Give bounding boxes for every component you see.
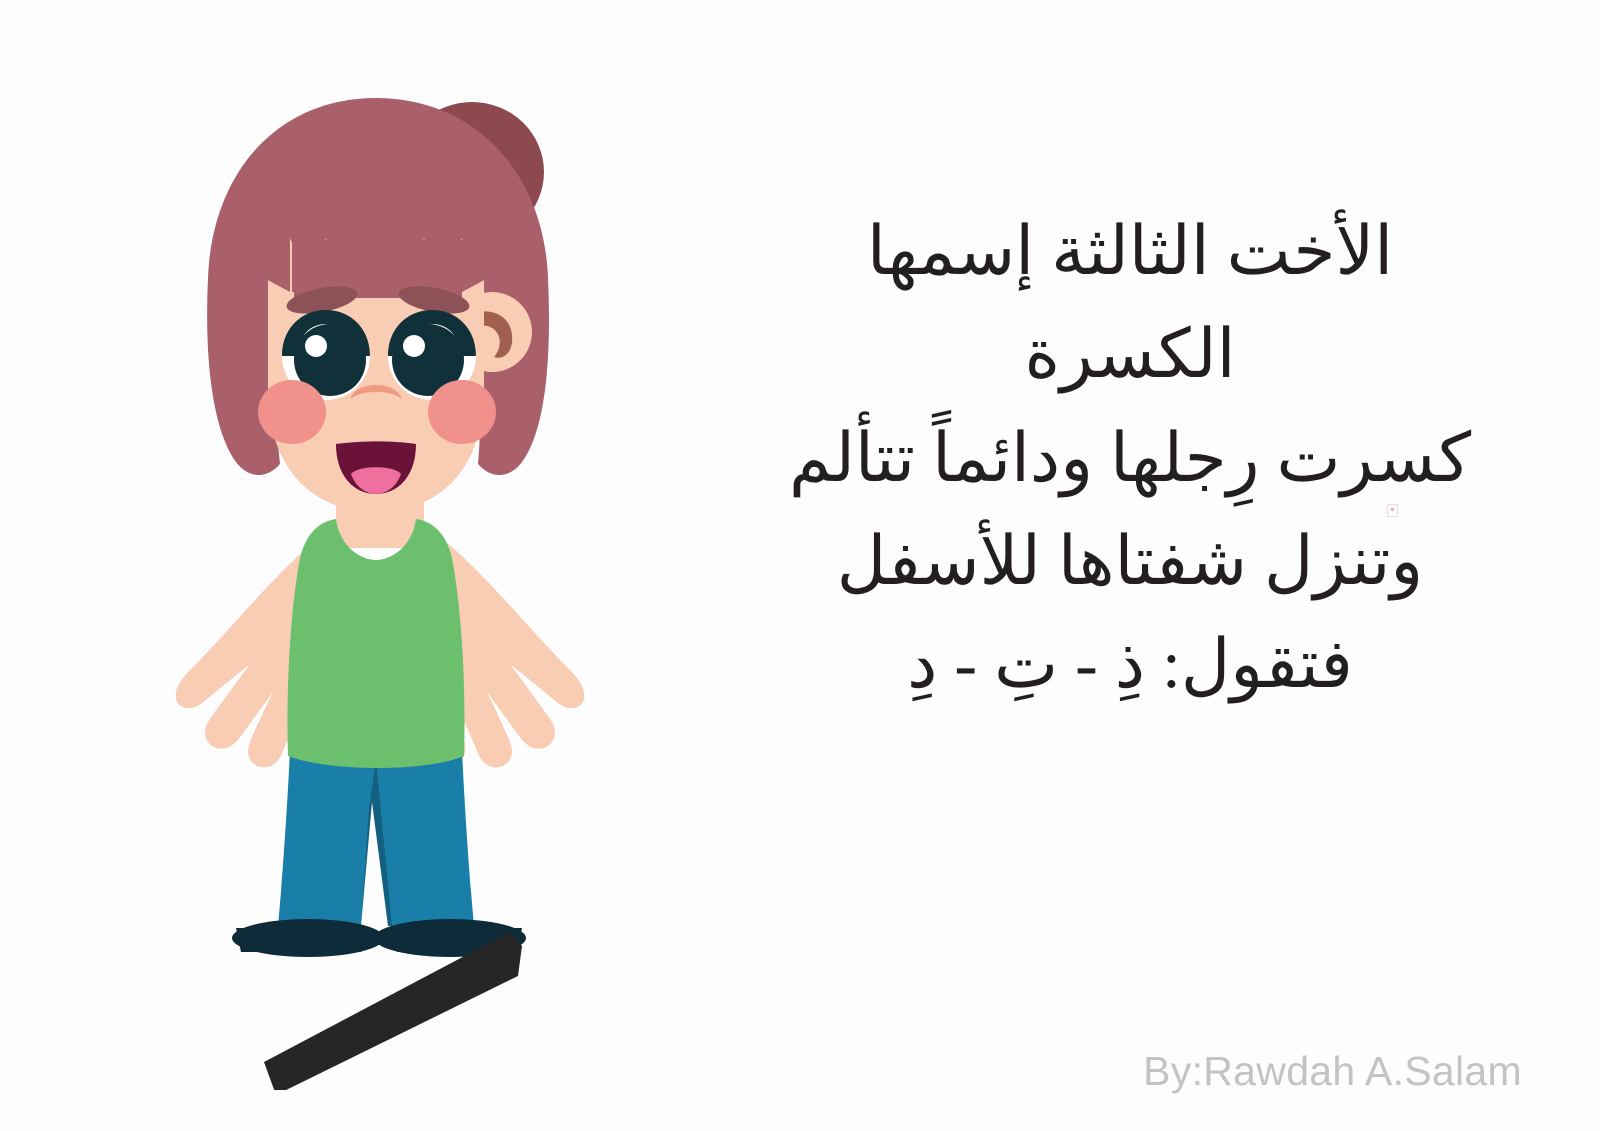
- lesson-line-3: كسرت رِجلها ودائماً تتألم: [770, 407, 1490, 510]
- girl-character-illustration: [140, 60, 620, 1090]
- shirt-icon: [288, 519, 465, 768]
- author-credit: By:Rawdah A.Salam: [1143, 1048, 1522, 1095]
- left-cheek: [258, 380, 326, 444]
- lesson-line-5: فتقول: ذِ - تِ - دِ: [770, 613, 1490, 716]
- lesson-line-1: الأخت الثالثة إسمها: [770, 200, 1490, 303]
- scan-artifact: [1387, 504, 1398, 517]
- lesson-text: الأخت الثالثة إسمها الكسرة كسرت رِجلها و…: [770, 200, 1490, 717]
- right-cheek: [428, 380, 496, 444]
- lesson-line-2: الكسرة: [770, 303, 1490, 406]
- worksheet-page: الأخت الثالثة إسمها الكسرة كسرت رِجلها و…: [0, 0, 1600, 1131]
- jeans-icon: [278, 750, 474, 926]
- lesson-line-4: وتنزل شفتاها للأسفل: [770, 510, 1490, 613]
